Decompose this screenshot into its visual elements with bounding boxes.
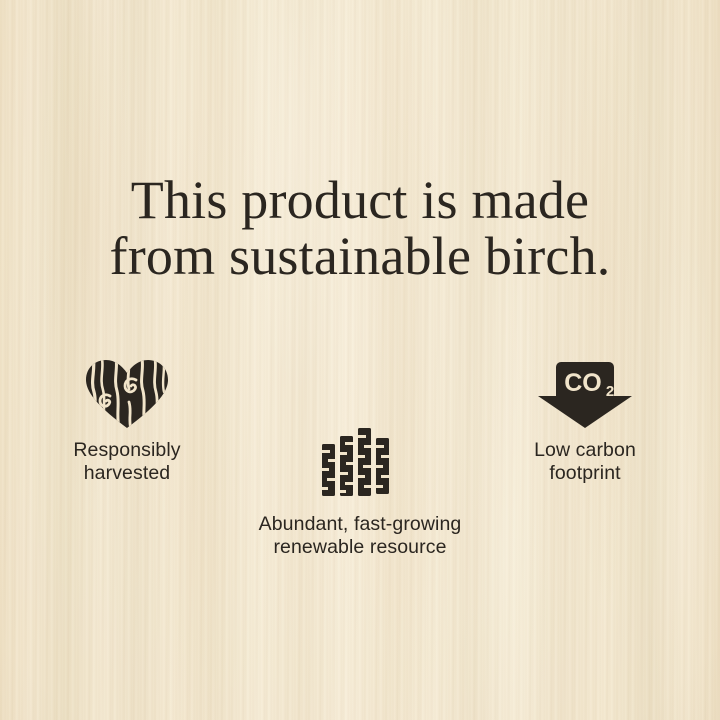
- feature-label-renewable-resource: Abundant, fast-growing renewable resourc…: [250, 513, 470, 559]
- feature-low-carbon-footprint: CO 2 Low carbon footprint: [485, 360, 685, 485]
- feature-renewable-resource: Abundant, fast-growing renewable resourc…: [250, 428, 470, 559]
- birch-trunks-icon: [250, 428, 470, 496]
- co2-icon-text: CO: [564, 369, 602, 397]
- headline-line-2: from sustainable birch.: [0, 228, 720, 284]
- birch-product-panel: This product is made from sustainable bi…: [0, 0, 720, 720]
- feature-label-low-carbon-footprint: Low carbon footprint: [485, 439, 685, 485]
- feature-label-line-2: renewable resource: [250, 536, 470, 559]
- feature-label-line-1: Low carbon: [485, 439, 685, 462]
- feature-responsibly-harvested: Responsibly harvested: [27, 358, 227, 485]
- co2-down-arrow-icon: CO 2: [485, 360, 685, 430]
- feature-label-line-2: footprint: [485, 462, 685, 485]
- feature-label-line-1: Responsibly: [27, 439, 227, 462]
- feature-label-line-2: harvested: [27, 462, 227, 485]
- feature-label-responsibly-harvested: Responsibly harvested: [27, 439, 227, 485]
- feature-label-line-1: Abundant, fast-growing: [250, 513, 470, 536]
- wood-grain-heart-icon: [27, 358, 227, 430]
- co2-icon-subscript: 2: [606, 383, 614, 400]
- headline: This product is made from sustainable bi…: [0, 172, 720, 284]
- headline-line-1: This product is made: [0, 172, 720, 228]
